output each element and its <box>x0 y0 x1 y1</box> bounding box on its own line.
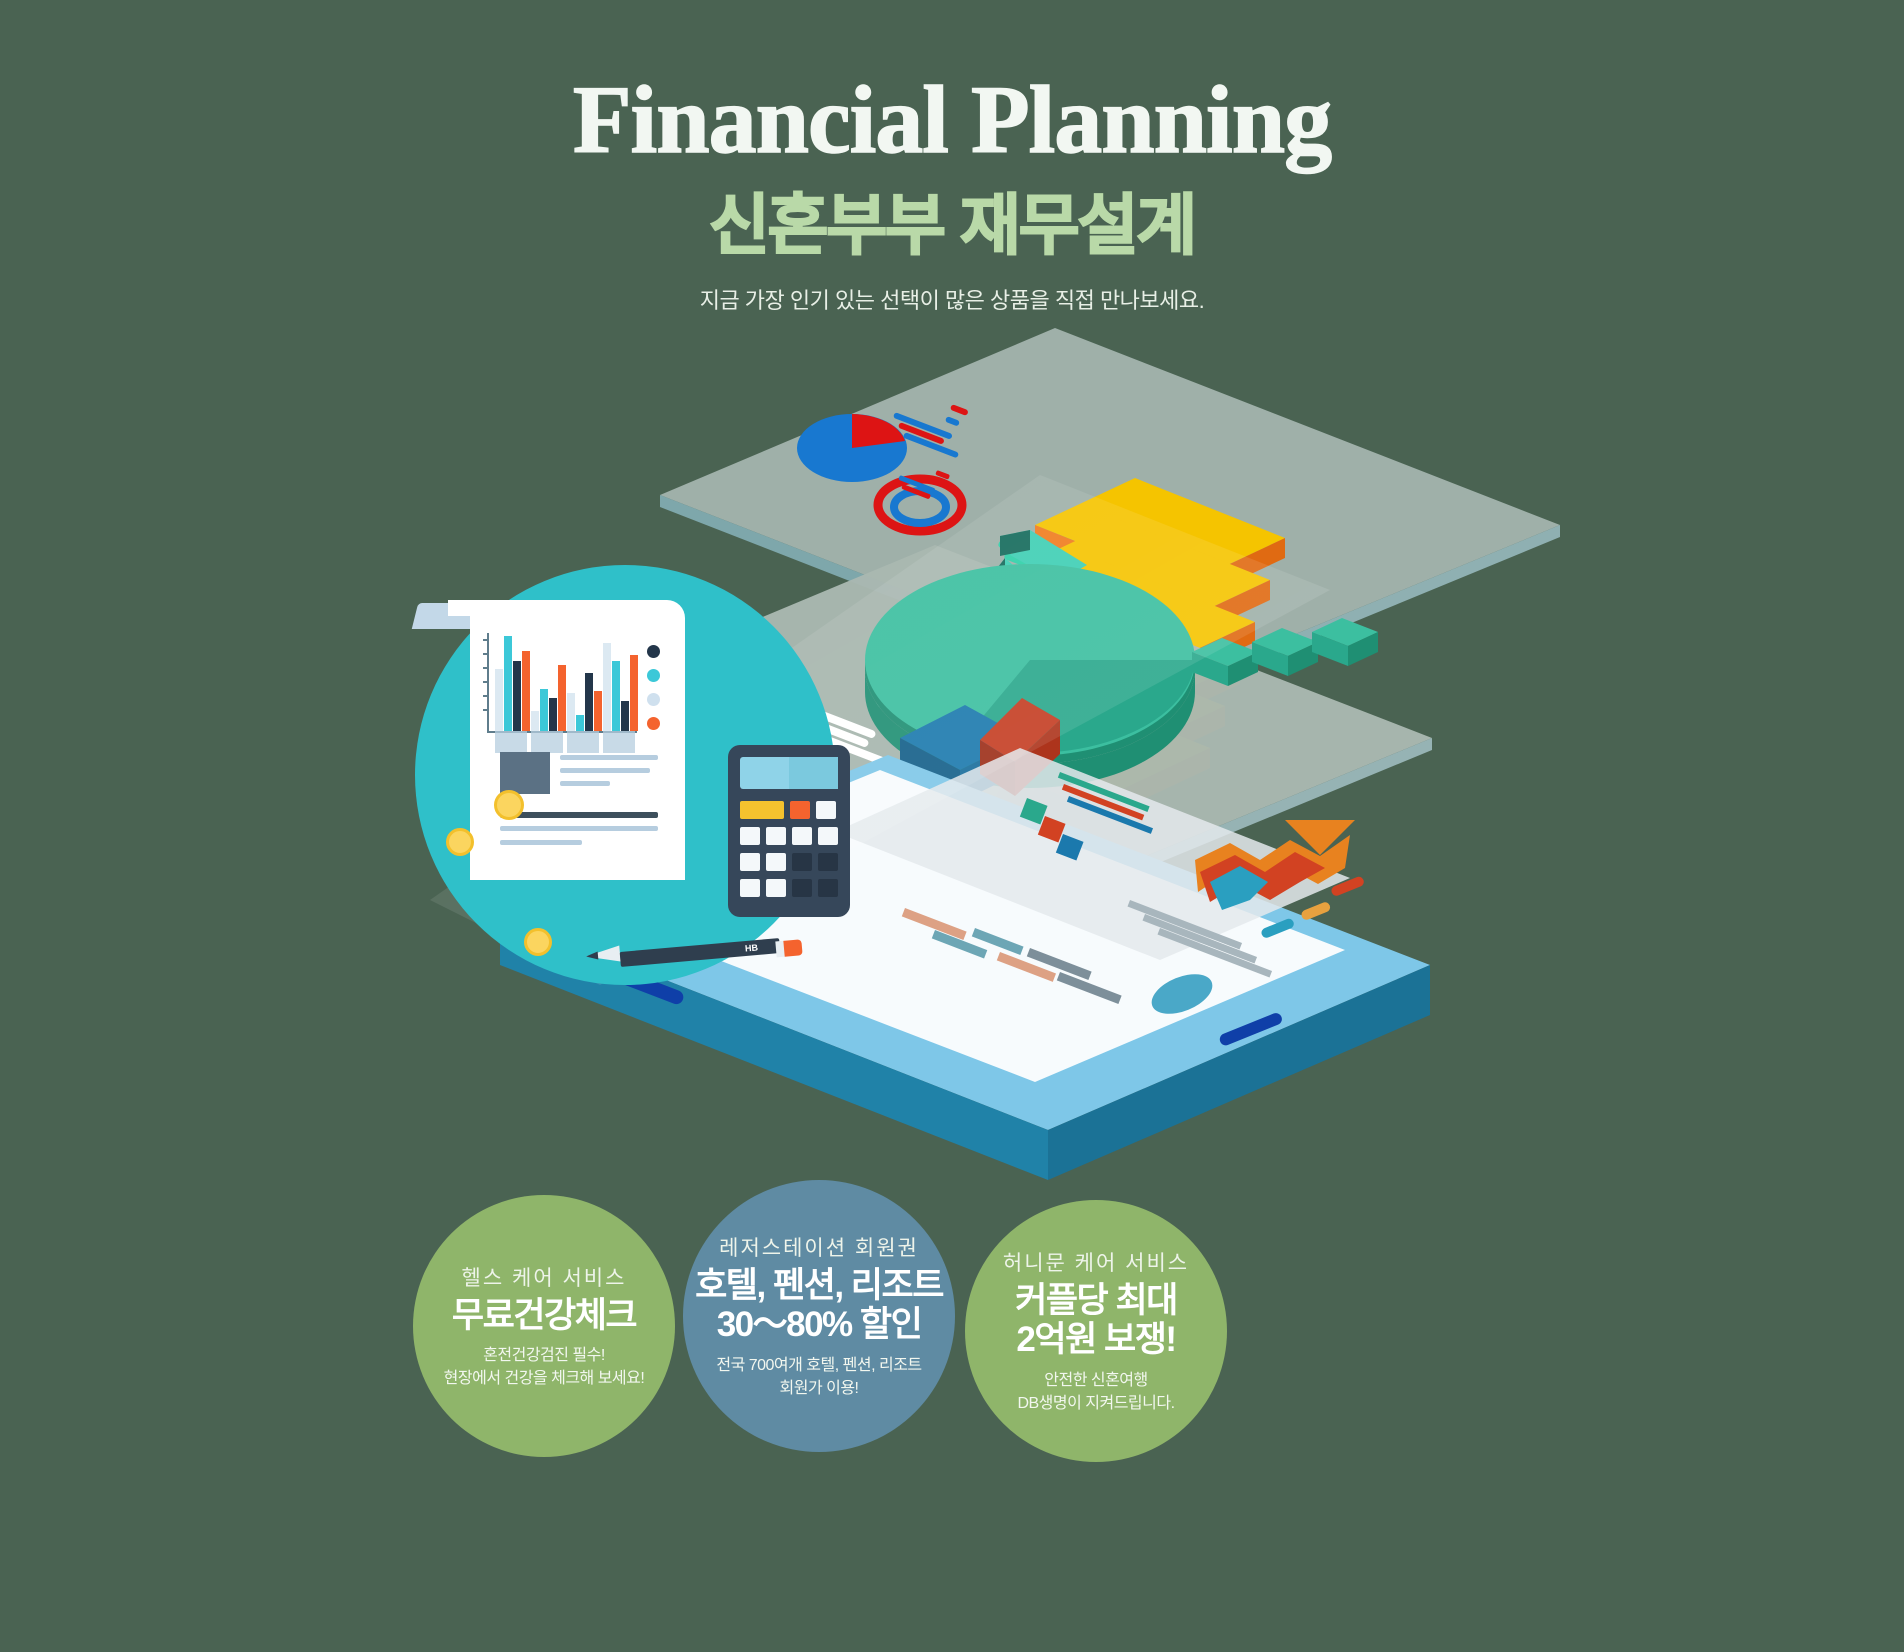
calculator-key <box>816 801 836 819</box>
coin-icon <box>494 790 524 820</box>
bubble-sub-line-2: 회원가 이용! <box>780 1377 859 1400</box>
axis-tick <box>483 667 489 669</box>
panel-top-pie-chart <box>797 414 907 482</box>
calculator-key <box>740 827 760 845</box>
pencil-label: HB <box>745 942 759 953</box>
page-title-korean: 신혼부부 재무설계 <box>0 189 1904 262</box>
bar-group-shadow <box>495 731 527 753</box>
bubble-headline-line-2: 30〜80% 할인 <box>717 1305 922 1344</box>
financial-illustration: $ <box>0 300 1904 1200</box>
feature-bubbles: 헬스 케어 서비스 무료건강체크 혼전건강검진 필수! 현장에서 건강을 체크해… <box>0 1195 1904 1495</box>
feature-bubble-health-care[interactable]: 헬스 케어 서비스 무료건강체크 혼전건강검진 필수! 현장에서 건강을 체크해… <box>413 1195 675 1457</box>
bar <box>621 701 629 731</box>
bar-group-shadow <box>531 731 563 753</box>
axis-tick <box>483 681 489 683</box>
page-title-english: Financial Planning <box>0 70 1904 171</box>
bar <box>576 715 584 731</box>
bar-group-shadow <box>567 731 599 753</box>
calculator-display <box>740 757 838 789</box>
calculator-key <box>818 827 838 845</box>
pencil-lead <box>586 951 599 960</box>
bar <box>594 691 602 731</box>
bubble-sub-line-1: 혼전건강검진 필수! <box>483 1344 605 1367</box>
bar <box>531 711 539 731</box>
calculator-key <box>792 879 812 897</box>
feature-bubble-honeymoon-care[interactable]: 허니문 케어 서비스 커플당 최대 2억원 보쟁! 안전한 신혼여행 DB생명이… <box>965 1200 1227 1462</box>
calculator-key <box>818 853 838 871</box>
bar <box>495 669 503 731</box>
bar-group-shadow <box>603 731 635 753</box>
calculator-key <box>766 879 786 897</box>
bubble-kicker: 레저스테이션 회원권 <box>719 1232 919 1262</box>
legend-dot <box>647 669 660 682</box>
paper-curl-highlight <box>448 600 638 616</box>
bar <box>540 689 548 731</box>
coin-icon <box>446 828 474 856</box>
calculator-key <box>740 853 760 871</box>
calculator-key <box>766 853 786 871</box>
legend-dot <box>647 693 660 706</box>
bar <box>585 673 593 731</box>
bar <box>603 643 611 731</box>
bubble-headline-line-1: 호텔, 펜션, 리조트 <box>695 1266 943 1305</box>
axis-tick <box>483 709 489 711</box>
axis-tick <box>483 653 489 655</box>
bubble-kicker: 허니문 케어 서비스 <box>1003 1247 1189 1277</box>
report-bar-chart <box>487 633 637 733</box>
calculator-key <box>790 801 810 819</box>
bubble-headline-line-1: 커플당 최대 <box>1015 1281 1177 1320</box>
bar <box>558 665 566 731</box>
document-image-placeholder <box>500 752 550 794</box>
calculator-display-right <box>789 757 838 789</box>
pencil-eraser <box>783 939 802 957</box>
bar <box>513 661 521 731</box>
bar <box>567 693 575 731</box>
bubble-sub-line-1: 전국 700여개 호텔, 펜션, 리조트 <box>716 1354 921 1377</box>
promo-banner-page: Financial Planning 신혼부부 재무설계 지금 가장 인기 있는… <box>0 0 1904 1652</box>
text-line <box>500 826 658 831</box>
text-line <box>500 812 658 818</box>
bar <box>630 655 638 731</box>
header: Financial Planning 신혼부부 재무설계 지금 가장 인기 있는… <box>0 0 1904 315</box>
legend-dot <box>647 645 660 658</box>
axis-tick <box>483 695 489 697</box>
axis-tick <box>483 639 489 641</box>
text-line <box>560 755 658 760</box>
calculator-icon <box>728 745 850 917</box>
bar <box>549 698 557 731</box>
calculator-key <box>766 827 786 845</box>
chart-y-axis <box>487 633 489 733</box>
bubble-headline: 무료건강체크 <box>452 1296 636 1335</box>
text-line <box>500 840 582 845</box>
calculator-key <box>818 879 838 897</box>
calculator-key <box>740 801 784 819</box>
calculator-key <box>792 853 812 871</box>
bar <box>612 661 620 731</box>
text-line <box>560 781 610 786</box>
coin-icon <box>524 928 552 956</box>
bar <box>504 636 512 731</box>
feature-bubble-leisure-station[interactable]: 레저스테이션 회원권 호텔, 펜션, 리조트 30〜80% 할인 전국 700여… <box>683 1180 955 1452</box>
legend-dot <box>647 717 660 730</box>
bar <box>522 651 530 731</box>
bubble-sub-line-1: 안전한 신혼여행 <box>1044 1369 1148 1392</box>
bubble-headline-line-2: 2억원 보쟁! <box>1016 1320 1175 1359</box>
bubble-sub-line-2: 현장에서 건강을 체크해 보세요! <box>444 1367 645 1390</box>
bubble-sub-line-2: DB생명이 지켜드립니다. <box>1017 1392 1174 1415</box>
text-line <box>560 768 650 773</box>
calculator-key <box>792 827 812 845</box>
calculator-key <box>740 879 760 897</box>
bubble-kicker: 헬스 케어 서비스 <box>462 1262 627 1292</box>
isometric-scene: $ <box>0 300 1904 1200</box>
